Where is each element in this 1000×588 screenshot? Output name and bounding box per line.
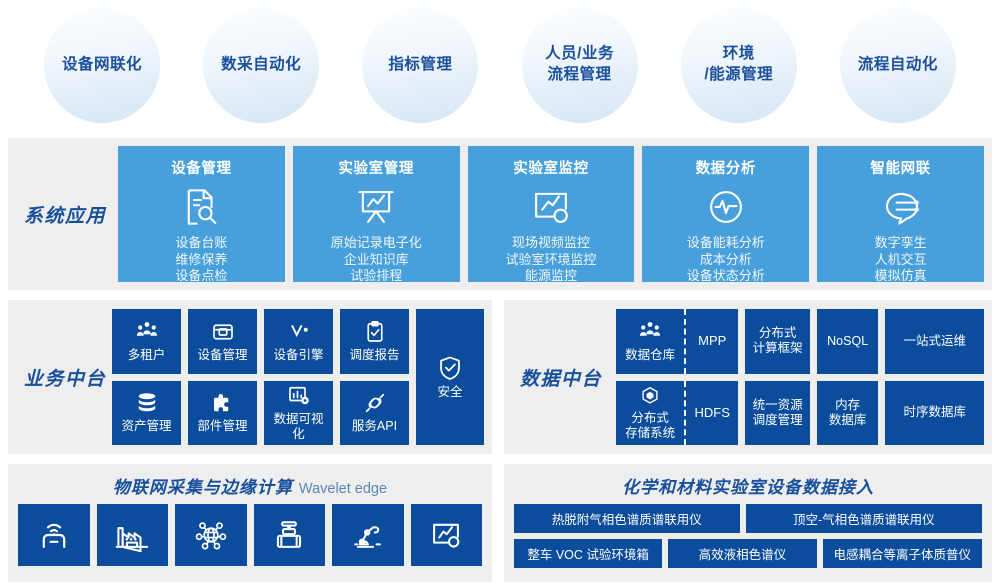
app-card-lines: 现场视频监控 试验室环境监控 能源监控 [505,235,596,285]
app-card-data-analysis[interactable]: 数据分析 设备能耗分析 成本分析 设备状态分析 [642,146,809,282]
business-platform-panel: 业务中台 多租户 [8,300,492,454]
data-tile-label: 时序数据库 [903,405,966,420]
biz-tile-security[interactable]: 安全 [416,309,484,445]
data-tile-label: 分布式 [631,411,669,426]
capability-line: /能源管理 [704,65,773,86]
database-asset-icon [135,391,159,415]
lab-devices-row-2: 整车 VOC 试验环境箱 高效液相色谱仪 电感耦合等离子体质普仪 [514,539,982,568]
data-tile-one-stop-ops[interactable]: 一站式运维 [885,309,984,374]
lab-chip-voc-chamber[interactable]: 整车 VOC 试验环境箱 [514,539,662,568]
lab-chip-icp-ms[interactable]: 电感耦合等离子体质普仪 [823,539,982,568]
data-tile-label: 内存 [835,398,860,413]
biz-tile-service-api[interactable]: 服务API [340,381,409,446]
factory-icon [115,518,149,552]
iot-edge-panel: 物联网采集与边缘计算Wavelet edge [8,464,492,582]
data-platform-label: 数据中台 [520,364,602,391]
data-platform-panel: 数据中台 数据仓库 MPP [504,300,992,454]
chart-view-icon [287,384,311,408]
machine-press-icon [272,518,306,552]
capability-bubble-4[interactable]: 人员/业务 流程管理 [522,7,638,123]
biz-tile-data-visualization[interactable]: 数据可视化 [264,381,333,446]
app-card-lab-monitoring[interactable]: 实验室监控 现场视频监控 试验室环境监控 能源监控 [468,146,635,282]
iot-edge-title: 物联网采集与边缘计算Wavelet edge [8,464,492,504]
data-tile-side-label: MPP [686,309,738,374]
app-card-lines: 设备台账 维修保养 设备点检 [175,235,227,285]
shield-check-icon [437,355,463,381]
biz-tile-label: 设备管理 [197,348,247,363]
data-tile-label: 调度管理 [753,413,803,428]
iot-edge-subtitle: Wavelet edge [299,481,387,497]
iot-cell-network-globe[interactable] [175,504,247,566]
data-tile-side-label: HDFS [686,381,738,446]
architecture-diagram: 设备网联化 数采自动化 指标管理 人员/业务 流程管理 环境 /能源管理 流程自… [0,0,1000,588]
data-tile-timeseries-database[interactable]: 时序数据库 [885,381,984,446]
lab-devices-title: 化学和材料实验室设备数据接入 [504,464,992,504]
capability-row: 设备网联化 数采自动化 指标管理 人员/业务 流程管理 环境 /能源管理 流程自… [0,0,1000,130]
robot-arm-icon [351,518,385,552]
clipboard-check-icon [363,320,387,344]
biz-tile-label: 安全 [437,385,462,400]
capability-line: 流程管理 [545,65,614,86]
capability-line: 指标管理 [388,55,452,76]
biz-tile-device-management[interactable]: 设备管理 [188,309,257,374]
biz-tile-label: 多租户 [128,348,166,363]
multi-tenant-icon [135,320,159,344]
iot-cell-machine-press[interactable] [254,504,326,566]
system-application-cards: 设备管理 设备台账 维修保养 设备点检 [118,146,984,282]
capability-line: 数采自动化 [221,55,301,76]
presentation-chart-icon [355,186,397,228]
business-platform-label: 业务中台 [24,364,106,391]
data-tile-distributed-storage[interactable]: 分布式 存储系统 HDFS [616,381,738,446]
iot-cell-wifi-gateway[interactable] [18,504,90,566]
capability-bubble-6[interactable]: 流程自动化 [840,7,956,123]
capability-bubble-1[interactable]: 设备网联化 [44,7,160,123]
biz-tile-asset-management[interactable]: 资产管理 [112,381,181,446]
lab-chip-thermal-desorption-gcms[interactable]: 热脱附气相色谱质谱联用仪 [514,504,740,533]
monitor-chart-icon [530,186,572,228]
device-box-icon [211,320,235,344]
data-tile-label: 数据仓库 [625,348,675,363]
data-tile-data-warehouse[interactable]: 数据仓库 MPP [616,309,738,374]
data-tile-label: 计算框架 [753,341,803,356]
app-card-title: 数据分析 [696,157,756,178]
capability-bubble-3[interactable]: 指标管理 [362,7,478,123]
app-card-smart-connection[interactable]: 智能网联 数字孪生 人机交互 模拟仿真 [817,146,984,282]
app-card-lines: 原始记录电子化 企业知识库 试验排程 [331,235,422,285]
biz-tile-multi-tenant[interactable]: 多租户 [112,309,181,374]
lab-chip-headspace-gcms[interactable]: 顶空-气相色谱质谱联用仪 [746,504,982,533]
app-card-title: 设备管理 [171,157,231,178]
document-wrench-icon [180,186,222,228]
capability-line: 流程自动化 [858,55,938,76]
chat-connect-icon [880,186,922,228]
iot-cell-robot-arm[interactable] [332,504,404,566]
capability-line: 环境 [704,44,773,65]
biz-tile-device-engine[interactable]: 设备引擎 [264,309,333,374]
biz-tile-component-management[interactable]: 部件管理 [188,381,257,446]
capability-bubble-5[interactable]: 环境 /能源管理 [681,7,797,123]
system-application-panel: 系统应用 设备管理 设备台账 维修保养 设备 [8,138,992,290]
capability-bubble-2[interactable]: 数采自动化 [203,7,319,123]
data-tile-unified-resource-scheduling[interactable]: 统一资源 调度管理 [745,381,810,446]
app-card-lab-management[interactable]: 实验室管理 原始记录电子化 企业知识库 试验排程 [293,146,460,282]
distributed-storage-main: 分布式 存储系统 [616,381,686,446]
data-warehouse-main: 数据仓库 [616,309,686,374]
app-card-title: 实验室监控 [513,157,589,178]
iot-cell-factory[interactable] [97,504,169,566]
monitor-chart-icon [429,518,463,552]
biz-tile-label: 资产管理 [121,419,171,434]
app-card-title: 智能网联 [870,157,930,178]
data-tile-label: 存储系统 [625,426,675,441]
biz-tile-label: 数据可视化 [269,412,328,442]
capability-line: 设备网联化 [62,55,142,76]
data-tile-nosql[interactable]: NoSQL [817,309,879,374]
engine-node-icon [287,320,311,344]
data-warehouse-icon [638,320,662,344]
biz-tile-label: 部件管理 [197,419,247,434]
lab-devices-chips: 热脱附气相色谱质谱联用仪 顶空-气相色谱质谱联用仪 整车 VOC 试验环境箱 高… [504,504,992,568]
network-globe-icon [194,518,228,552]
data-tile-label: 分布式 [759,326,797,341]
data-platform-tiles: 数据仓库 MPP 分布式 存储系统 [616,309,984,445]
api-link-icon [363,391,387,415]
data-tile-distributed-computing[interactable]: 分布式 计算框架 [745,309,810,374]
app-card-lines: 设备能耗分析 成本分析 设备状态分析 [687,235,765,285]
capability-line: 人员/业务 [545,44,614,65]
distributed-storage-icon [639,385,661,407]
biz-tile-label: 服务API [352,419,397,434]
data-tile-label: 一站式运维 [903,334,966,349]
biz-tile-schedule-report[interactable]: 调度报告 [340,309,409,374]
wifi-gateway-icon [37,518,71,552]
lab-devices-row-1: 热脱附气相色谱质谱联用仪 顶空-气相色谱质谱联用仪 [514,504,982,533]
biz-tile-label: 调度报告 [349,348,399,363]
app-card-title: 实验室管理 [338,157,414,178]
puzzle-piece-icon [211,391,235,415]
data-tile-label: 数据库 [829,413,867,428]
pulse-circle-icon [705,186,747,228]
data-tile-label: 统一资源 [753,398,803,413]
data-tile-memory-database[interactable]: 内存 数据库 [817,381,879,446]
system-application-label: 系统应用 [24,201,106,228]
app-card-device-management[interactable]: 设备管理 设备台账 维修保养 设备点检 [118,146,285,282]
business-platform-tiles: 多租户 资产管理 [112,309,484,445]
app-card-lines: 数字孪生 人机交互 模拟仿真 [875,235,927,285]
lab-chip-hplc[interactable]: 高效液相色谱仪 [668,539,816,568]
data-tile-label: NoSQL [827,334,868,349]
biz-tile-label: 设备引擎 [273,348,323,363]
lab-devices-panel: 化学和材料实验室设备数据接入 热脱附气相色谱质谱联用仪 顶空-气相色谱质谱联用仪… [504,464,992,582]
iot-icon-row [8,504,492,566]
iot-cell-monitor-chart[interactable] [411,504,483,566]
